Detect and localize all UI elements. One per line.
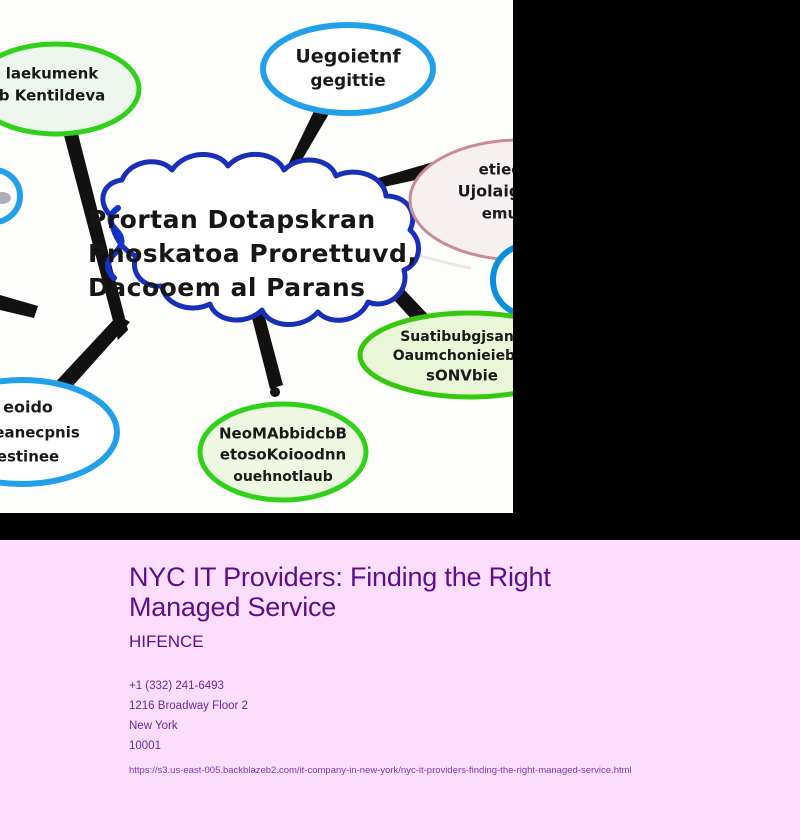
source-url-link[interactable]: https://s3.us-east-005.backblazeb2.com/i… bbox=[129, 764, 769, 778]
address-zip: 10001 bbox=[129, 736, 769, 756]
cloud-line-3: Dacooem al Parans bbox=[88, 273, 366, 302]
branch-bottom-center-line-3: ouehnotlaub bbox=[233, 469, 333, 485]
branch-bottom-left-line-1: eoido bbox=[3, 398, 53, 417]
branch-top-left-line-2: b Kentildeva bbox=[0, 87, 105, 105]
mindmap-canvas: Prortan Dotapskran Pnoskatoa Prorettuvd,… bbox=[0, 0, 513, 513]
cloud-line-2: Pnoskatoa Prorettuvd, bbox=[88, 239, 417, 268]
page-root: Prortan Dotapskran Pnoskatoa Prorettuvd,… bbox=[0, 0, 800, 840]
branch-right-lower-line-2: Oaumchonieiebte bbox=[393, 348, 513, 364]
address-street: 1216 Broadway Floor 2 bbox=[129, 696, 769, 716]
branch-right-upper-line-1: etiee bbox=[479, 161, 513, 179]
brand-name: HIFENCE bbox=[129, 632, 769, 652]
branch-right-lower-line-3: sONVbie bbox=[426, 367, 498, 385]
branch-node-top-center: Uegoietnf gegittie bbox=[263, 25, 433, 113]
branch-bottom-left-line-3: estinee bbox=[0, 448, 59, 466]
branch-node-bottom-center: NeoMAbbidcbB etosoKoioodnn ouehnotlaub bbox=[200, 404, 366, 500]
contact-block: +1 (332) 241-6493 1216 Broadway Floor 2 … bbox=[129, 676, 769, 756]
mindmap-illustration: Prortan Dotapskran Pnoskatoa Prorettuvd,… bbox=[0, 0, 513, 513]
branch-right-upper-line-3: emu bbox=[482, 205, 513, 223]
page-title: NYC IT Providers: Finding the Right Mana… bbox=[129, 562, 669, 622]
center-cloud-node: Prortan Dotapskran Pnoskatoa Prorettuvd,… bbox=[88, 154, 419, 324]
branch-right-lower-line-1: Suatibubgjsanu bbox=[400, 329, 513, 345]
branch-bottom-center-line-2: etosoKoioodnn bbox=[220, 446, 346, 464]
branch-right-upper-line-2: Ujolaigil6 bbox=[458, 182, 513, 201]
info-panel: NYC IT Providers: Finding the Right Mana… bbox=[0, 540, 800, 840]
branch-top-center-line-2: gegittie bbox=[310, 71, 385, 91]
branch-node-top-left: laekumenk b Kentildeva bbox=[0, 44, 139, 134]
address-city: New York bbox=[129, 716, 769, 736]
branch-bottom-left-line-2: nreanecpnis bbox=[0, 424, 80, 442]
branch-top-center-line-1: Uegoietnf bbox=[295, 46, 401, 68]
cloud-line-1: Prortan Dotapskran bbox=[88, 205, 376, 234]
branch-outline-top-center bbox=[263, 25, 433, 113]
phone-number[interactable]: +1 (332) 241-6493 bbox=[129, 676, 769, 696]
illustration-letterbox: Prortan Dotapskran Pnoskatoa Prorettuvd,… bbox=[0, 0, 800, 540]
branch-bottom-center-line-1: NeoMAbbidcbB bbox=[219, 425, 347, 443]
info-content: NYC IT Providers: Finding the Right Mana… bbox=[129, 562, 769, 778]
branch-top-left-line-1: laekumenk bbox=[6, 65, 100, 83]
